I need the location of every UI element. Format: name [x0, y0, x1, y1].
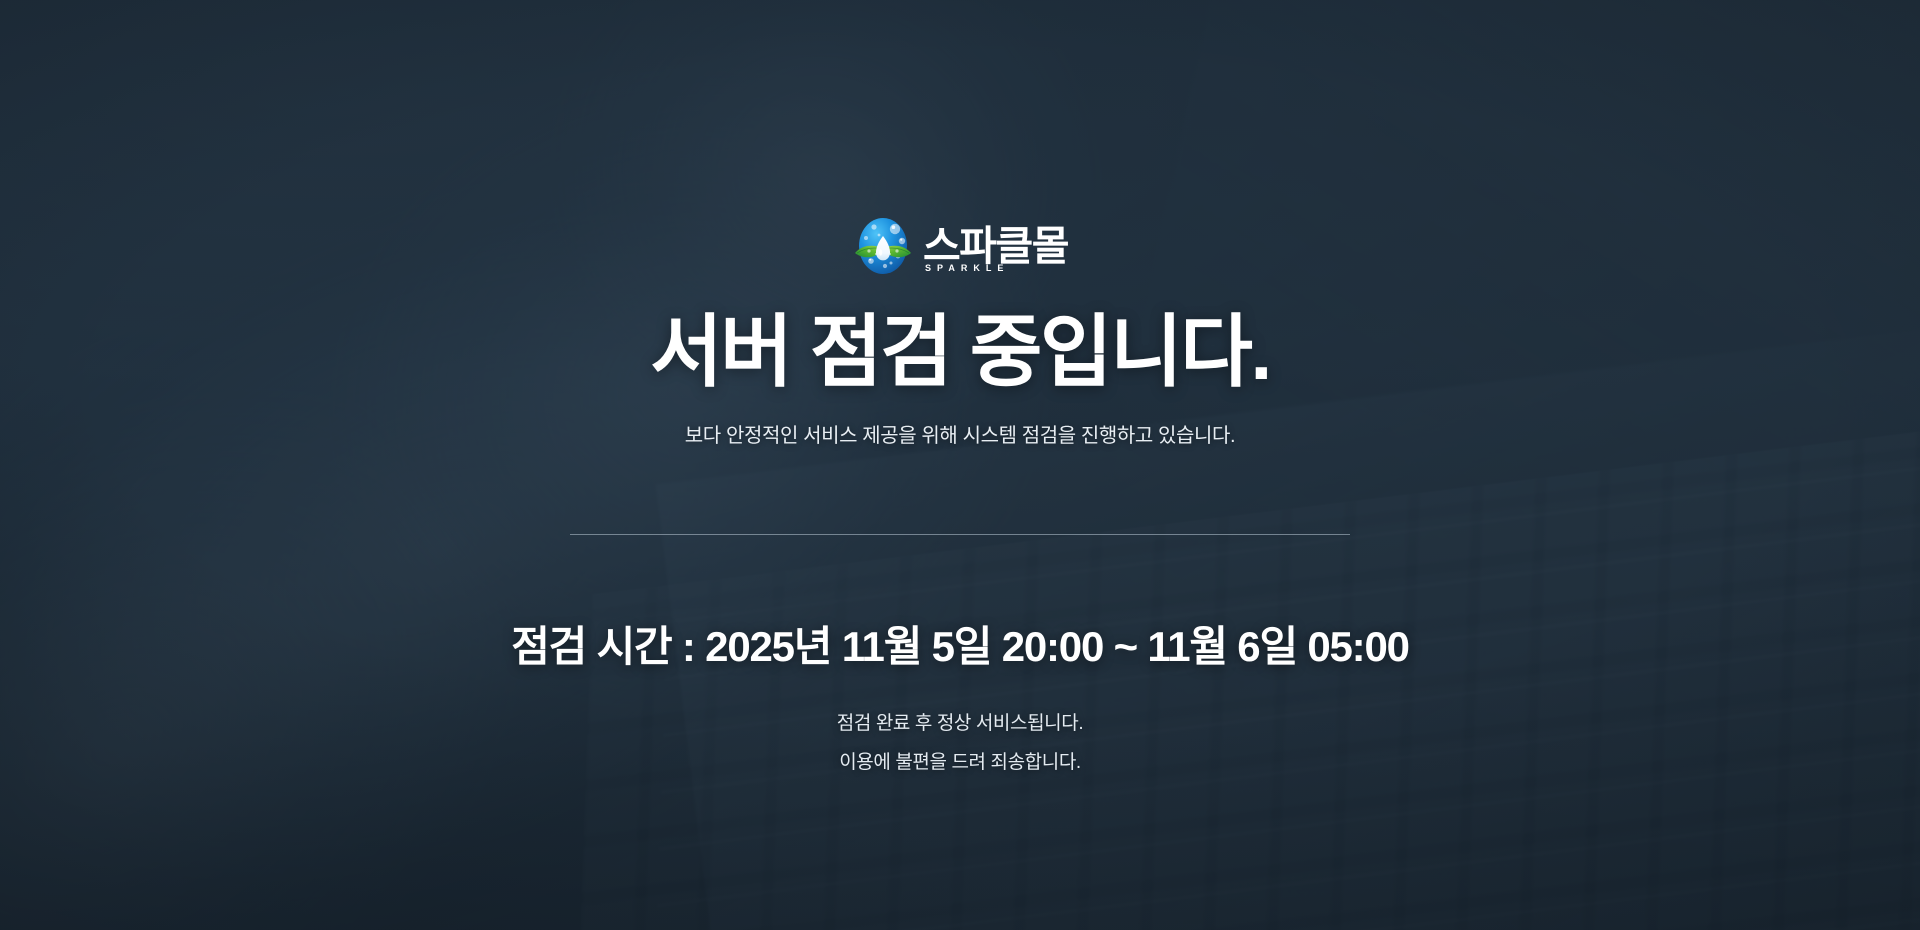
brand-name-en: SPARKLE: [925, 263, 1009, 273]
page-title: 서버 점검 중입니다.: [650, 311, 1270, 394]
brand-logo: 스파클몰 SPARKLE: [852, 215, 1068, 277]
brand-wordmark: 스파클몰 SPARKLE: [923, 216, 1068, 276]
notice-subtitle: 보다 안정적인 서비스 제공을 위해 시스템 점검을 진행하고 있습니다.: [685, 419, 1235, 448]
brand-name-ko: 스파클몰: [923, 226, 1068, 267]
maintenance-notice-page: 스파클몰 SPARKLE 서버 점검 중입니다. 보다 안정적인 서비스 제공을…: [0, 0, 1920, 930]
maintenance-window-text: 점검 시간 : 2025년 11월 5일 20:00 ~ 11월 6일 05:0…: [511, 613, 1409, 674]
section-divider: [570, 534, 1350, 535]
notice-footer-notes: 점검 완료 후 정상 서비스됩니다. 이용에 불편을 드려 죄송합니다.: [837, 708, 1083, 774]
note-line-2: 이용에 불편을 드려 죄송합니다.: [839, 747, 1081, 774]
sparkle-water-drop-leaf-emblem-icon: [852, 216, 914, 276]
note-line-1: 점검 완료 후 정상 서비스됩니다.: [837, 708, 1083, 735]
